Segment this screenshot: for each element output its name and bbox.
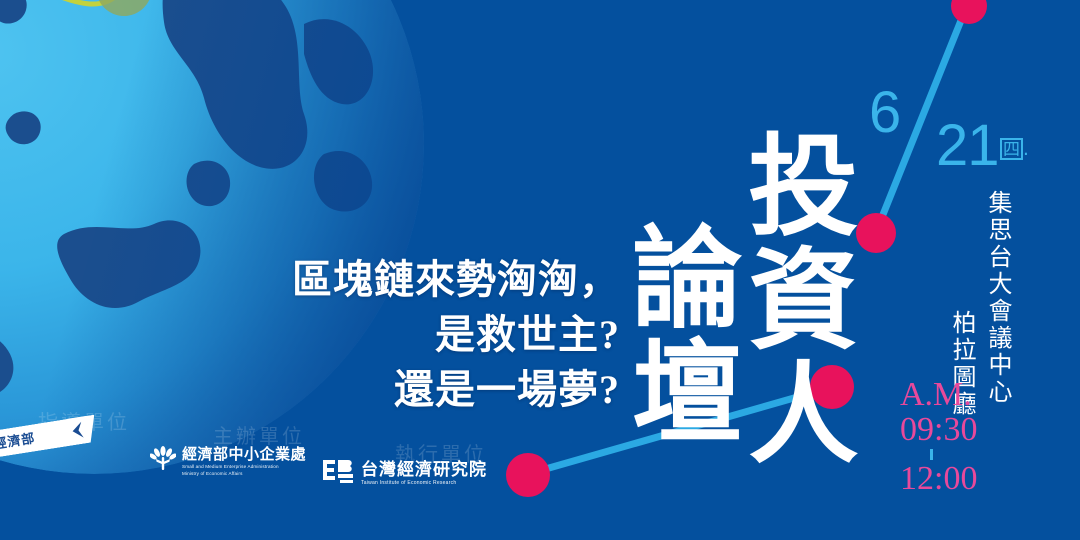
sme-logo-en-2: Ministry of Economic Affairs [182,471,306,478]
time-separator [930,449,933,460]
tier-logo-text: 台灣經濟研究院 Taiwan Institute of Economic Res… [361,455,487,487]
pink-dot-top [951,0,987,24]
pink-dot-bottom [506,453,550,497]
sme-flower-icon [150,446,176,474]
event-time: A.M. 09:30 12:00 [900,378,977,497]
pink-dot-mid [856,213,896,253]
subtitle-line-3: 還是一場夢? [200,362,620,417]
tier-logo-en: Taiwan Institute of Economic Research [361,480,487,487]
subtitle: 區塊鏈來勢洶洶， 是救世主? 還是一場夢? [200,252,620,418]
laptop-icon [109,0,139,1]
date-weekday-text: 四 [1000,138,1023,160]
subtitle-line-2: 是救世主? [200,307,620,362]
tier-emblem-icon [322,458,354,484]
time-start: 09:30 [900,413,977,448]
logo-taiwan-institute-of-economic-research: 台灣經濟研究院 Taiwan Institute of Economic Res… [322,455,487,487]
tier-logo-zh: 台灣經濟研究院 [361,455,487,480]
title-column-left: 論壇 [620,220,732,448]
moea-arrow-icon [46,412,91,454]
logo-sme-administration: 經濟部中小企業處 Small and Medium Enterprise Adm… [150,443,306,477]
event-poster: 區塊鏈來勢洶洶， 是救世主? 還是一場夢? 投資人 論壇 6 21 四. 集思台… [0,0,1080,540]
sme-logo-text: 經濟部中小企業處 Small and Medium Enterprise Adm… [182,443,306,477]
time-end: 12:00 [900,462,977,497]
sme-logo-en-1: Small and Medium Enterprise Administrati… [182,464,306,471]
page-title: 投資人 論壇 [620,128,848,470]
date-weekday-dot: . [1023,137,1029,160]
date-day: 21 [936,117,999,175]
subtitle-line-1: 區塊鏈來勢洶洶， [200,252,620,307]
title-column-right: 投資人 [736,128,848,470]
date-month: 6 [869,84,901,142]
time-period: A.M. [900,378,977,413]
venue-name: 集思台大會議中心 [980,190,1015,406]
date-weekday: 四. [1000,138,1029,160]
sme-logo-zh: 經濟部中小企業處 [182,443,306,464]
